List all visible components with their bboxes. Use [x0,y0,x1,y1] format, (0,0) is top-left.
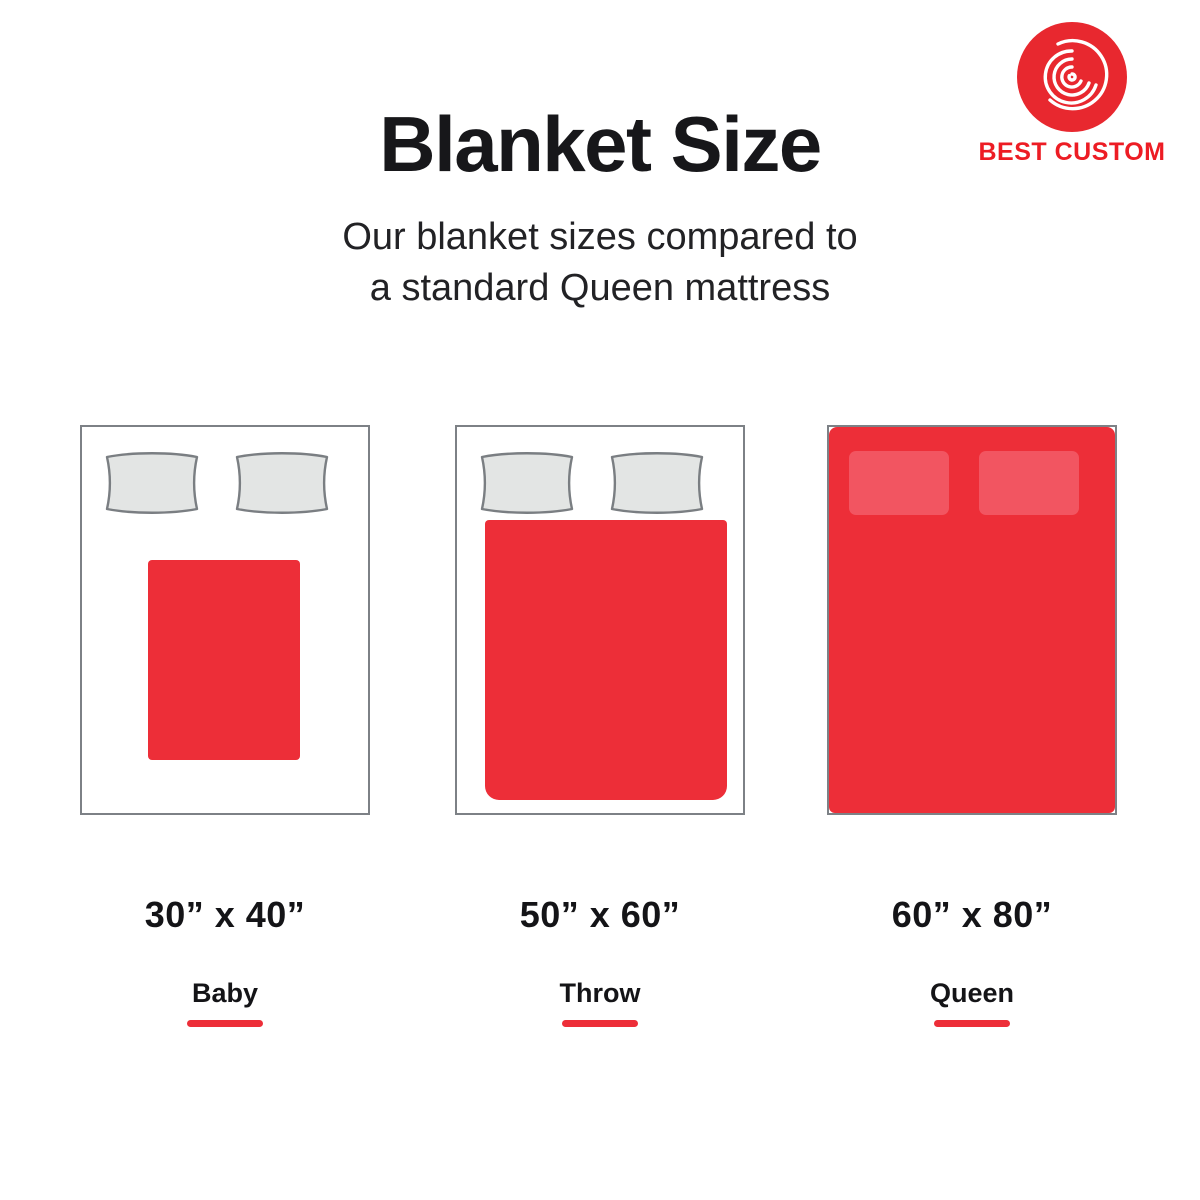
bed-diagram-baby [80,425,370,815]
label-group-baby: 30” x 40” Baby [80,895,370,1027]
blanket-overlay-throw [485,520,727,800]
page-title: Blanket Size [0,0,1200,186]
accent-underline [562,1020,638,1027]
bed-comparison-row [0,425,1200,817]
size-name-label: Throw [455,979,745,1009]
header: Blanket Size Our blanket sizes compared … [0,0,1200,314]
size-name-label: Queen [827,979,1117,1009]
page-subtitle: Our blanket sizes compared to a standard… [0,186,1200,315]
subtitle-line-1: Our blanket sizes compared to [0,212,1200,263]
label-group-queen: 60” x 80” Queen [827,895,1117,1027]
covered-pillow-icon [979,451,1079,515]
blanket-overlay-baby [148,560,300,760]
dimension-label: 30” x 40” [80,895,370,935]
dimension-label: 60” x 80” [827,895,1117,935]
blanket-overlay-queen [829,427,1115,813]
size-name-label: Baby [80,979,370,1009]
dimension-label: 50” x 60” [455,895,745,935]
labels-row: 30” x 40” Baby 50” x 60” Throw 60” x 80”… [0,895,1200,1055]
pillow-icon [102,451,202,515]
bed-diagram-queen [827,425,1117,815]
pillow-icon [477,451,577,515]
label-group-throw: 50” x 60” Throw [455,895,745,1027]
subtitle-line-2: a standard Queen mattress [0,263,1200,314]
pillow-icon [607,451,707,515]
bed-diagram-throw [455,425,745,815]
accent-underline [934,1020,1010,1027]
covered-pillow-icon [849,451,949,515]
pillow-icon [232,451,332,515]
accent-underline [187,1020,263,1027]
